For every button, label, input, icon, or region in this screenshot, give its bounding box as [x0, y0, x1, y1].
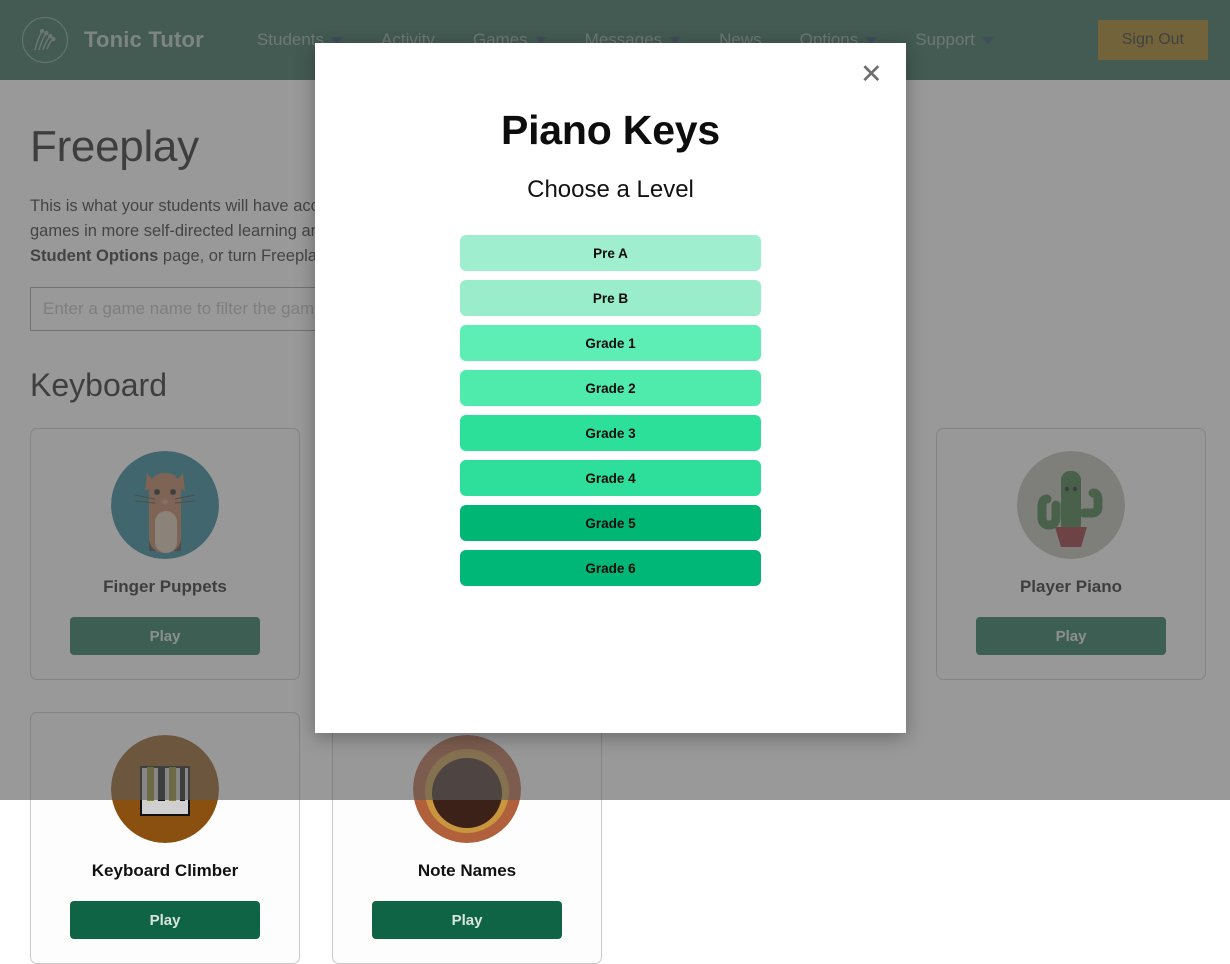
level-list: Pre A Pre B Grade 1 Grade 2 Grade 3 Grad… — [460, 235, 761, 586]
level-button-grade-4[interactable]: Grade 4 — [460, 460, 761, 496]
level-button-grade-2[interactable]: Grade 2 — [460, 370, 761, 406]
game-card-name: Note Names — [418, 861, 516, 881]
modal-subtitle: Choose a Level — [315, 176, 906, 204]
modal-title: Piano Keys — [315, 107, 906, 154]
level-button-pre-a[interactable]: Pre A — [460, 235, 761, 271]
piano-keys-level-modal: ✕ Piano Keys Choose a Level Pre A Pre B … — [315, 43, 906, 733]
game-card-name: Keyboard Climber — [92, 861, 238, 881]
level-button-grade-3[interactable]: Grade 3 — [460, 415, 761, 451]
play-button[interactable]: Play — [372, 901, 562, 939]
level-button-grade-5[interactable]: Grade 5 — [460, 505, 761, 541]
play-button[interactable]: Play — [70, 901, 260, 939]
close-icon[interactable]: ✕ — [854, 57, 888, 91]
level-button-pre-b[interactable]: Pre B — [460, 280, 761, 316]
level-button-grade-1[interactable]: Grade 1 — [460, 325, 761, 361]
level-button-grade-6[interactable]: Grade 6 — [460, 550, 761, 586]
